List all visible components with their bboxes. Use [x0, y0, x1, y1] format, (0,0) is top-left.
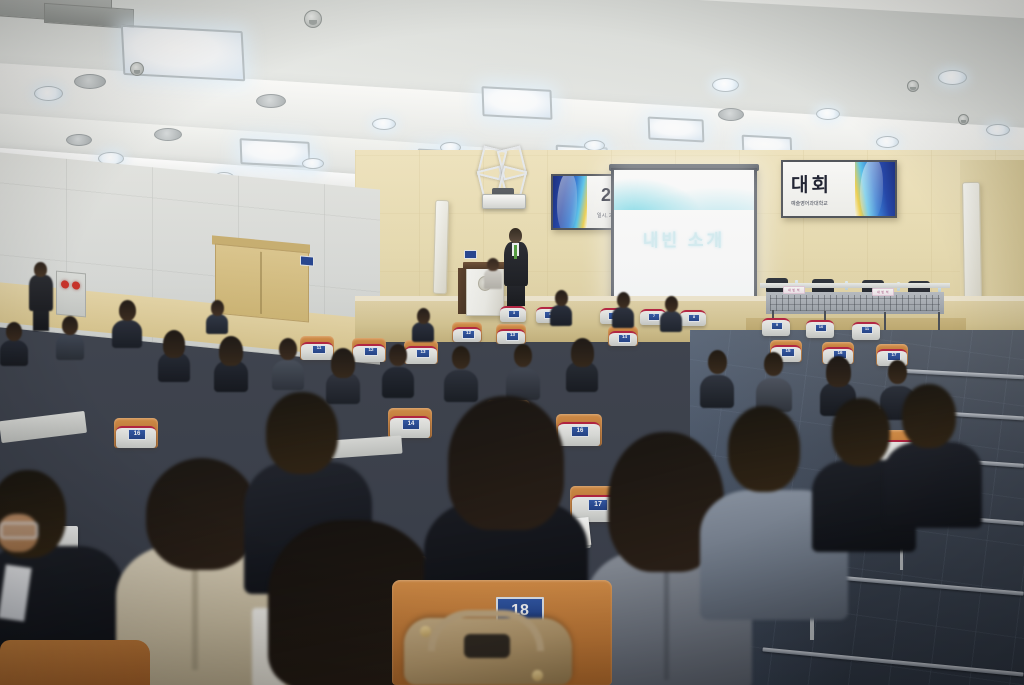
audience-member [550, 290, 572, 324]
ceiling-panel-light [481, 86, 552, 120]
audience-torso [660, 311, 682, 332]
handbag [404, 618, 572, 685]
banner-left-graphic [553, 176, 587, 228]
seat[interactable]: 12 [452, 322, 482, 342]
attendee-head [266, 392, 338, 474]
audience-torso [612, 307, 634, 328]
foreground-attendee-right [884, 384, 982, 524]
exit-sign [300, 255, 314, 266]
seat[interactable]: 11 [852, 322, 880, 340]
seat-backrest [0, 640, 150, 685]
audience-torso [550, 305, 572, 326]
seat[interactable]: 16 [114, 418, 158, 448]
attendant-legs [33, 309, 49, 331]
seat[interactable]: 8 [680, 310, 706, 326]
slide-background-wave [614, 170, 754, 210]
audience-hair [826, 356, 851, 387]
recessed-downlight [372, 118, 396, 130]
projection-screen: 내빈 소개 [614, 170, 754, 304]
attendant-coat [29, 275, 53, 311]
seat-number-plate: 3 [508, 310, 520, 318]
smoke-detector-icon [958, 114, 969, 125]
audience-torso [382, 367, 414, 398]
seat-number-plate: 11 [312, 345, 326, 354]
seat[interactable]: 3 [500, 306, 526, 322]
seat[interactable]: 14 [608, 326, 638, 346]
tablet-arm-desk [0, 411, 87, 443]
audience-member [112, 300, 142, 346]
seat-number-plate: 9 [771, 322, 783, 330]
audience-torso [56, 334, 84, 360]
audience-head [764, 352, 783, 376]
audience-torso [272, 360, 304, 390]
attendee-suit [884, 442, 982, 528]
audience-hair [331, 348, 355, 378]
audience-head [119, 300, 136, 321]
ceiling-panel-light [648, 117, 705, 143]
recessed-downlight [712, 78, 739, 92]
head-table-namecard: 내 빈 석 [872, 288, 894, 296]
handbag-stud [420, 626, 431, 637]
audience-head [555, 290, 568, 306]
recessed-downlight [986, 124, 1010, 136]
audience-member [56, 316, 84, 358]
recessed-downlight-off [154, 128, 182, 141]
recessed-downlight [302, 158, 324, 169]
seat-number-plate: 14 [402, 419, 420, 430]
recessed-downlight [34, 86, 63, 101]
attendee-hair [146, 458, 258, 570]
banner-right-title: 대회 [791, 170, 832, 197]
audience-torso [0, 340, 28, 366]
exit-sign [464, 250, 477, 259]
audience-member [700, 350, 734, 406]
audience-member [158, 330, 190, 380]
audience-head [888, 360, 907, 384]
recessed-downlight [876, 136, 899, 148]
attendee-hair [448, 396, 564, 530]
audience-torso [206, 314, 228, 334]
ceiling-projector [482, 194, 526, 209]
head-table-namecard: 내 빈 석 [783, 286, 805, 294]
audience-torso [112, 320, 142, 348]
banner-right-subtitle: 예술영어과대학교 [791, 200, 828, 207]
smoke-detector-icon [304, 10, 322, 28]
audience-member [412, 308, 434, 340]
audience-torso [412, 322, 434, 342]
seat-number-plate: 13 [506, 332, 519, 341]
attendee-head [832, 398, 890, 466]
audience-head [62, 316, 78, 335]
seat-number-plate: 10 [815, 324, 827, 332]
audience-member [272, 338, 304, 388]
alarm-button-icon [72, 281, 80, 290]
wall-speaker-left [433, 200, 449, 294]
attendant-head [34, 262, 47, 277]
ceiling-panel-light [240, 138, 311, 168]
audience-member [0, 322, 28, 364]
audience-member [566, 338, 598, 390]
recessed-downlight-off [718, 108, 744, 121]
fire-alarm-box[interactable] [56, 271, 86, 318]
audience-hair [219, 336, 243, 366]
audience-head [452, 346, 470, 369]
wall-speaker-right [962, 182, 982, 300]
smoke-detector-icon [907, 80, 919, 92]
presenter-legs [507, 284, 525, 306]
audience-member [756, 352, 792, 410]
seat-number-plate: 13 [416, 349, 430, 358]
recessed-downlight-off [74, 74, 106, 89]
audience-head [514, 344, 532, 367]
audience-hair [163, 330, 185, 358]
blazer-seam [664, 556, 669, 680]
audience-member [660, 296, 682, 330]
audience-member [444, 346, 478, 400]
seat[interactable]: 10 [806, 320, 834, 338]
side-door[interactable] [215, 244, 309, 323]
recessed-downlight [938, 70, 967, 85]
seat-number-plate: 14 [618, 334, 631, 343]
presenter-tie [514, 245, 517, 259]
banner-right: 대회 예술영어과대학교 [781, 160, 897, 218]
seat-number-plate: 12 [462, 330, 475, 339]
alarm-bell-icon [61, 280, 69, 289]
audience-head [417, 308, 430, 324]
namecard-text: 내 빈 석 [873, 289, 893, 295]
seat-number-plate: 11 [861, 326, 873, 334]
audience-member [206, 300, 228, 332]
seat-number-plate: 16 [128, 429, 146, 440]
namecard-text: 내 빈 석 [784, 287, 804, 293]
audience-head [389, 344, 407, 366]
presenter-hair [509, 228, 522, 243]
host-body [484, 269, 502, 289]
seat-number-plate: 7 [648, 313, 660, 321]
audience-head [211, 300, 224, 316]
recessed-downlight-off [256, 94, 286, 108]
recessed-downlight [816, 108, 840, 120]
banner-right-graphic [855, 162, 895, 216]
audience-hair [571, 338, 594, 367]
eyeglasses-icon [0, 522, 38, 539]
audience-torso [700, 375, 734, 408]
audience-head [708, 350, 727, 374]
seat[interactable]: 13 [496, 324, 526, 344]
attendee-head [728, 406, 800, 492]
standing-attendant [28, 262, 54, 328]
audience-head [665, 296, 678, 312]
host-head [487, 258, 499, 271]
seated-host [484, 258, 502, 288]
audience-member [214, 336, 248, 390]
seat-number-plate: 12 [364, 347, 378, 356]
audience-head [617, 292, 630, 308]
seat-number-plate: 8 [688, 314, 700, 322]
recessed-downlight-off [66, 134, 92, 146]
handbag-opening [464, 634, 510, 658]
slide-title: 내빈 소개 [614, 226, 754, 251]
audience-head [279, 338, 297, 360]
audience-member [612, 292, 634, 326]
audience-member [382, 344, 414, 396]
attendee-head [902, 384, 956, 448]
audience-head [6, 322, 22, 341]
head-table-skirt [766, 292, 944, 314]
seat[interactable]: 9 [762, 318, 790, 336]
smoke-detector-icon [130, 62, 144, 76]
audience-member [506, 344, 540, 398]
handbag-stud [532, 670, 543, 681]
presenter [503, 228, 529, 304]
lecture-hall-photo: 20 일시, 2010년 대회 예술영어과대학교 내빈 소개 내 빈 석 내 빈… [0, 0, 1024, 685]
